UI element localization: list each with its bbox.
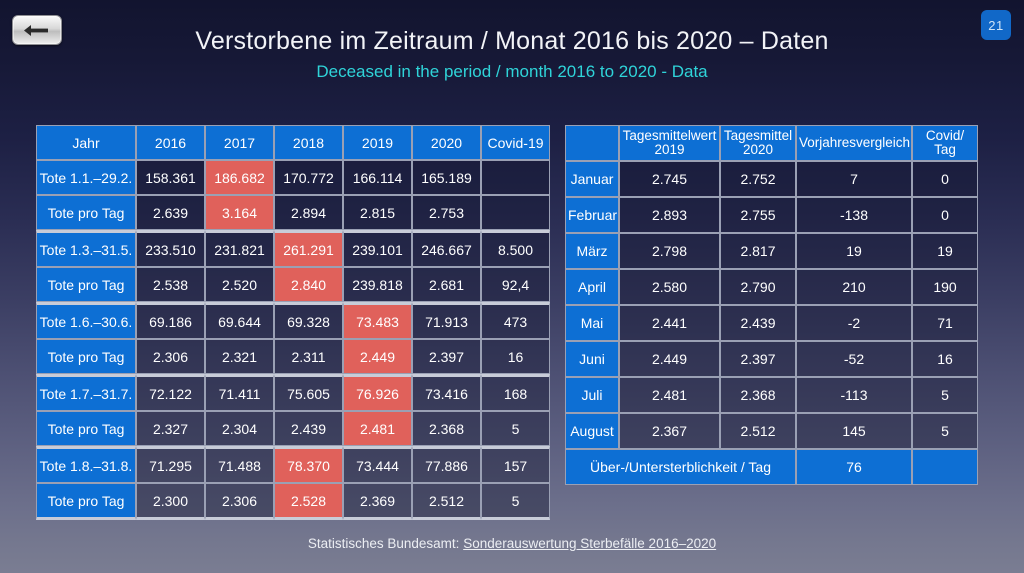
table-cell: 69.328 (274, 302, 343, 339)
table-cell: 239.818 (343, 267, 412, 302)
table-cell: 3.164 (205, 195, 274, 230)
summary-label: Über-/Untersterblichkeit / Tag (565, 449, 796, 485)
column-header-2019: 2019 (343, 125, 412, 160)
table-cell: 2.481 (343, 411, 412, 446)
table-cell-covid-per-day: 16 (912, 341, 978, 377)
table-cell: 2.840 (274, 267, 343, 302)
table-row: Januar2.7452.75270 (565, 161, 978, 197)
table-cell: 473 (481, 302, 550, 339)
table-cell: 16 (481, 339, 550, 374)
table-row: Juli2.4812.368-1135 (565, 377, 978, 413)
table-cell (481, 160, 550, 195)
row-label: Tote pro Tag (36, 267, 136, 302)
table-row: Tote pro Tag2.3002.3062.5282.3692.5125 (36, 483, 550, 520)
column-header-2016: 2016 (136, 125, 205, 160)
table-row: Tote 1.7.–31.7.72.12271.41175.60576.9267… (36, 374, 550, 411)
table-cell: 168 (481, 374, 550, 411)
table-cell: 2.753 (412, 195, 481, 230)
table-cell: 5 (481, 483, 550, 520)
table-row: Tote pro Tag2.5382.5202.840239.8182.6819… (36, 267, 550, 302)
source-prefix: Statistisches Bundesamt: (308, 536, 463, 551)
table-cell-year-over-year: -52 (796, 341, 912, 377)
month-label: Mai (565, 305, 619, 341)
table-row: Tote 1.8.–31.8.71.29571.48878.37073.4447… (36, 446, 550, 483)
table-cell-year-over-year: 145 (796, 413, 912, 449)
source-footnote: Statistisches Bundesamt: Sonderauswertun… (0, 536, 1024, 551)
table-cell: 8.500 (481, 230, 550, 267)
table-cell-mean-2020: 2.752 (720, 161, 796, 197)
table-header-row: Tagesmittelwert2019Tagesmittel2020Vorjah… (565, 125, 978, 161)
table-row: Tote pro Tag2.3062.3212.3112.4492.39716 (36, 339, 550, 374)
source-link[interactable]: Sonderauswertung Sterbefälle 2016–2020 (463, 536, 716, 551)
table-cell-mean-2019: 2.367 (619, 413, 720, 449)
table-cell: 2.528 (274, 483, 343, 520)
table-cell: 76.926 (343, 374, 412, 411)
table-cell: 2.520 (205, 267, 274, 302)
deaths-by-period-table: Jahr20162017201820192020Covid-19Tote 1.1… (36, 125, 550, 520)
table-cell-mean-2019: 2.441 (619, 305, 720, 341)
table-cell-year-over-year: -2 (796, 305, 912, 341)
table-cell: 2.327 (136, 411, 205, 446)
row-label: Tote pro Tag (36, 339, 136, 374)
table-cell-mean-2020: 2.397 (720, 341, 796, 377)
table-cell: 72.122 (136, 374, 205, 411)
table-cell: 239.101 (343, 230, 412, 267)
table-cell: 69.644 (205, 302, 274, 339)
table-cell: 2.449 (343, 339, 412, 374)
table-cell-mean-2020: 2.790 (720, 269, 796, 305)
table-cell: 69.186 (136, 302, 205, 339)
table-cell: 77.886 (412, 446, 481, 483)
table-cell-mean-2020: 2.817 (720, 233, 796, 269)
row-label: Tote pro Tag (36, 195, 136, 230)
row-label: Tote pro Tag (36, 411, 136, 446)
table-cell: 2.304 (205, 411, 274, 446)
table-row: März2.7982.8171919 (565, 233, 978, 269)
table-cell: 158.361 (136, 160, 205, 195)
row-label: Tote 1.8.–31.8. (36, 446, 136, 483)
table-cell-mean-2019: 2.580 (619, 269, 720, 305)
column-header-1: Tagesmittelwert2019 (619, 125, 720, 161)
table-cell: 2.311 (274, 339, 343, 374)
table-header-row: Jahr20162017201820192020Covid-19 (36, 125, 550, 160)
table-cell-year-over-year: 7 (796, 161, 912, 197)
table-cell-covid-per-day: 71 (912, 305, 978, 341)
table-cell: 2.306 (205, 483, 274, 520)
page-subtitle: Deceased in the period / month 2016 to 2… (0, 62, 1024, 82)
month-label: Februar (565, 197, 619, 233)
table-cell: 5 (481, 411, 550, 446)
column-header-3: Vorjahresvergleich (796, 125, 912, 161)
table-cell: 246.667 (412, 230, 481, 267)
table-cell-year-over-year: 19 (796, 233, 912, 269)
table-cell-mean-2019: 2.449 (619, 341, 720, 377)
table-row: Tote 1.3.–31.5.233.510231.821261.291239.… (36, 230, 550, 267)
summary-value: 76 (796, 449, 912, 485)
table-cell-mean-2019: 2.798 (619, 233, 720, 269)
table-row: Tote 1.1.–29.2.158.361186.682170.772166.… (36, 160, 550, 195)
column-header-4: Covid/Tag (912, 125, 978, 161)
table-row: Tote pro Tag2.3272.3042.4392.4812.3685 (36, 411, 550, 446)
table-cell: 2.681 (412, 267, 481, 302)
row-label: Tote 1.7.–31.7. (36, 374, 136, 411)
table-cell-mean-2020: 2.512 (720, 413, 796, 449)
summary-row: Über-/Untersterblichkeit / Tag76 (565, 449, 978, 485)
table-cell: 2.321 (205, 339, 274, 374)
table-cell: 165.189 (412, 160, 481, 195)
page-title: Verstorbene im Zeitraum / Monat 2016 bis… (0, 27, 1024, 56)
month-label: Januar (565, 161, 619, 197)
table-cell: 166.114 (343, 160, 412, 195)
table-cell-covid-per-day: 0 (912, 197, 978, 233)
table-row: Tote pro Tag2.6393.1642.8942.8152.753 (36, 195, 550, 230)
table-cell: 71.295 (136, 446, 205, 483)
table-cell: 261.291 (274, 230, 343, 267)
table-cell-mean-2019: 2.745 (619, 161, 720, 197)
table-cell-year-over-year: -138 (796, 197, 912, 233)
table-cell: 2.369 (343, 483, 412, 520)
table-cell: 2.815 (343, 195, 412, 230)
column-header-2017: 2017 (205, 125, 274, 160)
column-header-2018: 2018 (274, 125, 343, 160)
table-row: Juni2.4492.397-5216 (565, 341, 978, 377)
table-cell: 2.894 (274, 195, 343, 230)
table-cell-mean-2019: 2.893 (619, 197, 720, 233)
table-cell-year-over-year: -113 (796, 377, 912, 413)
month-label: Juli (565, 377, 619, 413)
column-header-jahr: Jahr (36, 125, 136, 160)
table-cell: 2.512 (412, 483, 481, 520)
column-header-covid-19: Covid-19 (481, 125, 550, 160)
table-cell: 2.300 (136, 483, 205, 520)
month-label: August (565, 413, 619, 449)
table-cell-covid-per-day: 0 (912, 161, 978, 197)
month-label: April (565, 269, 619, 305)
slide-root: 21 Verstorbene im Zeitraum / Monat 2016 … (0, 0, 1024, 573)
table-row: Tote 1.6.–30.6.69.18669.64469.32873.4837… (36, 302, 550, 339)
table-cell: 71.411 (205, 374, 274, 411)
table-cell: 2.439 (274, 411, 343, 446)
table-row: Februar2.8932.755-1380 (565, 197, 978, 233)
row-label: Tote 1.3.–31.5. (36, 230, 136, 267)
table-cell-covid-per-day: 5 (912, 377, 978, 413)
month-label: Juni (565, 341, 619, 377)
row-label: Tote 1.1.–29.2. (36, 160, 136, 195)
table-cell: 233.510 (136, 230, 205, 267)
table-cell: 186.682 (205, 160, 274, 195)
table-cell: 2.306 (136, 339, 205, 374)
table-cell: 92,4 (481, 267, 550, 302)
column-header-2: Tagesmittel2020 (720, 125, 796, 161)
table-cell-covid-per-day: 5 (912, 413, 978, 449)
table-cell: 170.772 (274, 160, 343, 195)
table-cell-mean-2020: 2.439 (720, 305, 796, 341)
table-cell: 2.639 (136, 195, 205, 230)
table-cell: 78.370 (274, 446, 343, 483)
table-cell: 71.488 (205, 446, 274, 483)
table-cell: 157 (481, 446, 550, 483)
table-cell-covid-per-day: 190 (912, 269, 978, 305)
table-cell: 73.416 (412, 374, 481, 411)
row-label: Tote pro Tag (36, 483, 136, 520)
table-cell-year-over-year: 210 (796, 269, 912, 305)
table-row: August2.3672.5121455 (565, 413, 978, 449)
table-cell-mean-2020: 2.368 (720, 377, 796, 413)
table-cell-mean-2020: 2.755 (720, 197, 796, 233)
table-cell: 2.368 (412, 411, 481, 446)
table-row: Mai2.4412.439-271 (565, 305, 978, 341)
table-row: April2.5802.790210190 (565, 269, 978, 305)
table-cell: 231.821 (205, 230, 274, 267)
table-cell: 75.605 (274, 374, 343, 411)
table-cell-mean-2019: 2.481 (619, 377, 720, 413)
summary-trailing (912, 449, 978, 485)
table-cell: 2.397 (412, 339, 481, 374)
table-cell: 73.444 (343, 446, 412, 483)
table-cell: 2.538 (136, 267, 205, 302)
table-cell: 71.913 (412, 302, 481, 339)
column-header-2020: 2020 (412, 125, 481, 160)
table-cell (481, 195, 550, 230)
column-header-0 (565, 125, 619, 161)
monthly-daily-means-table: Tagesmittelwert2019Tagesmittel2020Vorjah… (565, 125, 978, 485)
table-cell-covid-per-day: 19 (912, 233, 978, 269)
row-label: Tote 1.6.–30.6. (36, 302, 136, 339)
month-label: März (565, 233, 619, 269)
table-cell: 73.483 (343, 302, 412, 339)
